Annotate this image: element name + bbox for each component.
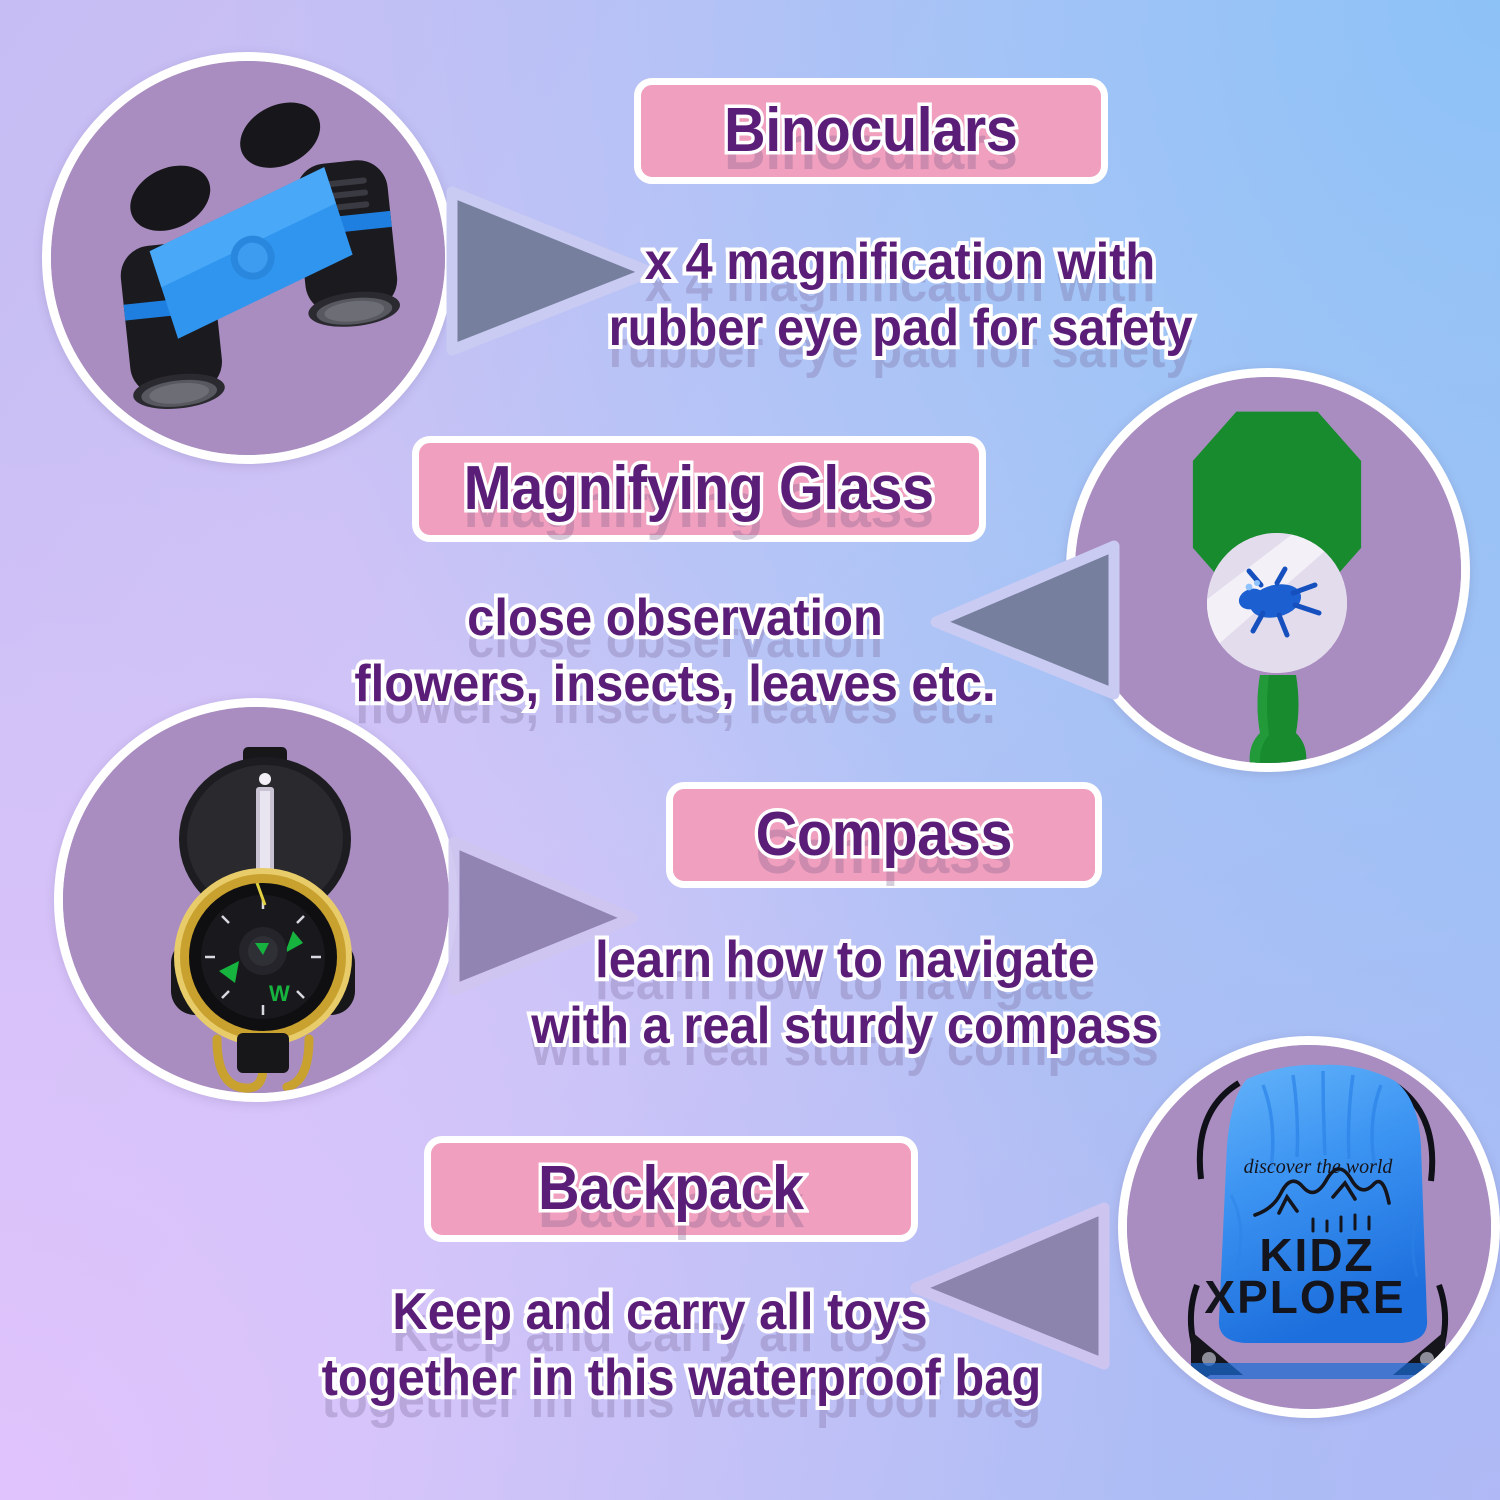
svg-text:W: W xyxy=(269,981,290,1006)
description-line: with a real sturdy compass with a real s… xyxy=(500,996,1190,1062)
binoculars-illustration xyxy=(51,61,454,464)
binoculars-photo xyxy=(42,52,454,464)
description-line: together in this waterproof bag together… xyxy=(300,1348,1020,1414)
compass-illustration: W xyxy=(63,707,458,1102)
feature-label-compass: Compass Compass xyxy=(666,782,1102,888)
description-line: x 4 magnification with x 4 magnification… xyxy=(590,232,1210,298)
backpack-illustration: discover the world KIDZ XPLORE xyxy=(1127,1045,1500,1418)
feature-description-compass: learn how to navigate learn how to navig… xyxy=(500,930,1190,1062)
description-line: close observation close observation xyxy=(330,588,1020,654)
feature-label-backpack-text: Backpack xyxy=(538,1158,804,1220)
compass-photo: W xyxy=(54,698,458,1102)
description-line: flowers, insects, leaves etc. flowers, i… xyxy=(330,654,1020,720)
feature-description-magnifying-glass: close observation close observation flow… xyxy=(330,588,1020,720)
description-line: Keep and carry all toys Keep and carry a… xyxy=(300,1282,1020,1348)
feature-description-binoculars: x 4 magnification with x 4 magnification… xyxy=(590,232,1210,364)
feature-label-binoculars: Binoculars Binoculars xyxy=(634,78,1108,184)
description-line: rubber eye pad for safety rubber eye pad… xyxy=(590,298,1210,364)
feature-label-compass-text: Compass xyxy=(756,804,1012,866)
magnifying-glass-illustration xyxy=(1075,377,1470,772)
feature-label-magnifying-glass-text: Magnifying Glass xyxy=(464,458,934,520)
backpack-brand-line-2: XPLORE xyxy=(1204,1271,1405,1323)
feature-label-binoculars-text: Binoculars xyxy=(724,100,1017,162)
feature-label-backpack: Backpack Backpack xyxy=(424,1136,918,1242)
backpack-tagline: discover the world xyxy=(1244,1156,1394,1178)
feature-description-backpack: Keep and carry all toys Keep and carry a… xyxy=(300,1282,1020,1414)
description-line: learn how to navigate learn how to navig… xyxy=(500,930,1190,996)
feature-label-magnifying-glass: Magnifying Glass Magnifying Glass xyxy=(412,436,986,542)
backpack-photo: discover the world KIDZ XPLORE xyxy=(1118,1036,1500,1418)
